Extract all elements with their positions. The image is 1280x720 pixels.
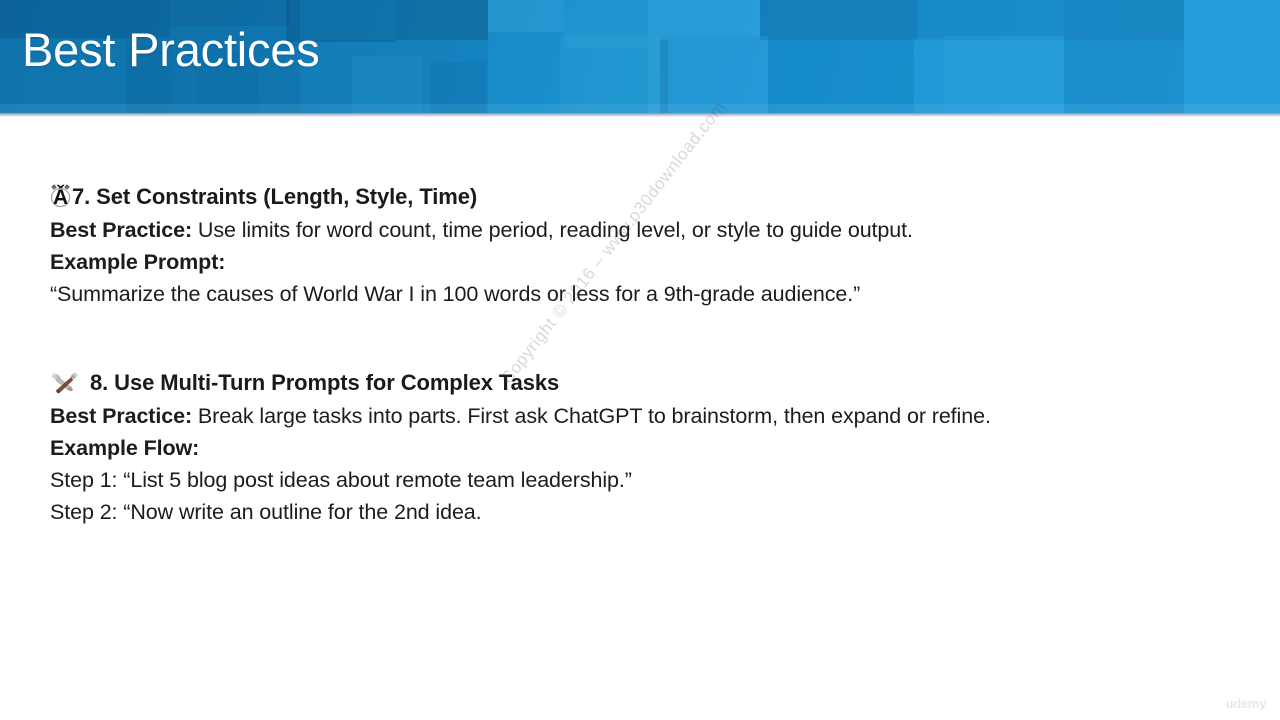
- best-practice-line: Best Practice: Use limits for word count…: [50, 214, 1250, 246]
- mosaic-tile: [0, 104, 1280, 113]
- mosaic-tile: [396, 0, 488, 40]
- mosaic-tile: [914, 38, 944, 113]
- best-practice-line: Best Practice: Break large tasks into pa…: [50, 400, 1250, 432]
- best-practice-label: Best Practice:: [50, 404, 192, 428]
- best-practice-label: Best Practice:: [50, 218, 192, 242]
- stopwatch-icon: Ǎ: [50, 184, 71, 210]
- mosaic-tile: [944, 36, 1064, 113]
- udemy-logo-watermark: udemy: [1226, 696, 1266, 711]
- header-divider: [0, 113, 1280, 117]
- section-heading: Ǎ 7. Set Constraints (Length, Style, Tim…: [50, 180, 1250, 214]
- example-line: “Summarize the causes of World War I in …: [50, 278, 1250, 310]
- section-heading-text: 7. Set Constraints (Length, Style, Time): [72, 180, 477, 214]
- page-title: Best Practices: [22, 21, 320, 79]
- mosaic-tile: [660, 40, 668, 113]
- example-line: Step 2: “Now write an outline for the 2n…: [50, 496, 1250, 528]
- mosaic-tile: [918, 0, 1064, 40]
- mosaic-tile: [560, 36, 660, 113]
- section-multi-turn-prompts: 8. Use Multi-Turn Prompts for Complex Ta…: [50, 366, 1250, 528]
- slide: Best Practices Ǎ 7. Set Constraints (Len…: [0, 0, 1280, 720]
- mosaic-tile: [1184, 0, 1280, 113]
- mosaic-tile: [768, 40, 914, 113]
- example-line: Step 1: “List 5 blog post ideas about re…: [50, 464, 1250, 496]
- section-heading-text: 8. Use Multi-Turn Prompts for Complex Ta…: [90, 366, 559, 400]
- mosaic-tile: [760, 0, 918, 40]
- best-practice-text: Use limits for word count, time period, …: [198, 218, 913, 242]
- mosaic-tile: [1064, 40, 1184, 113]
- slide-content: Ǎ 7. Set Constraints (Length, Style, Tim…: [50, 180, 1250, 528]
- mosaic-tile: [1064, 0, 1184, 40]
- slide-header-band: Best Practices: [0, 0, 1280, 113]
- example-label: Example Flow:: [50, 432, 1250, 464]
- section-spacer: [50, 310, 1250, 366]
- mosaic-tile: [648, 0, 760, 36]
- section-heading: 8. Use Multi-Turn Prompts for Complex Ta…: [50, 366, 1250, 400]
- best-practice-text: Break large tasks into parts. First ask …: [198, 404, 991, 428]
- stopwatch-icon-fallback-letter: Ǎ: [50, 184, 71, 212]
- section-set-constraints: Ǎ 7. Set Constraints (Length, Style, Tim…: [50, 180, 1250, 310]
- mosaic-tile: [488, 0, 564, 32]
- hammer-and-wrench-icon: [50, 371, 80, 395]
- example-label: Example Prompt:: [50, 246, 1250, 278]
